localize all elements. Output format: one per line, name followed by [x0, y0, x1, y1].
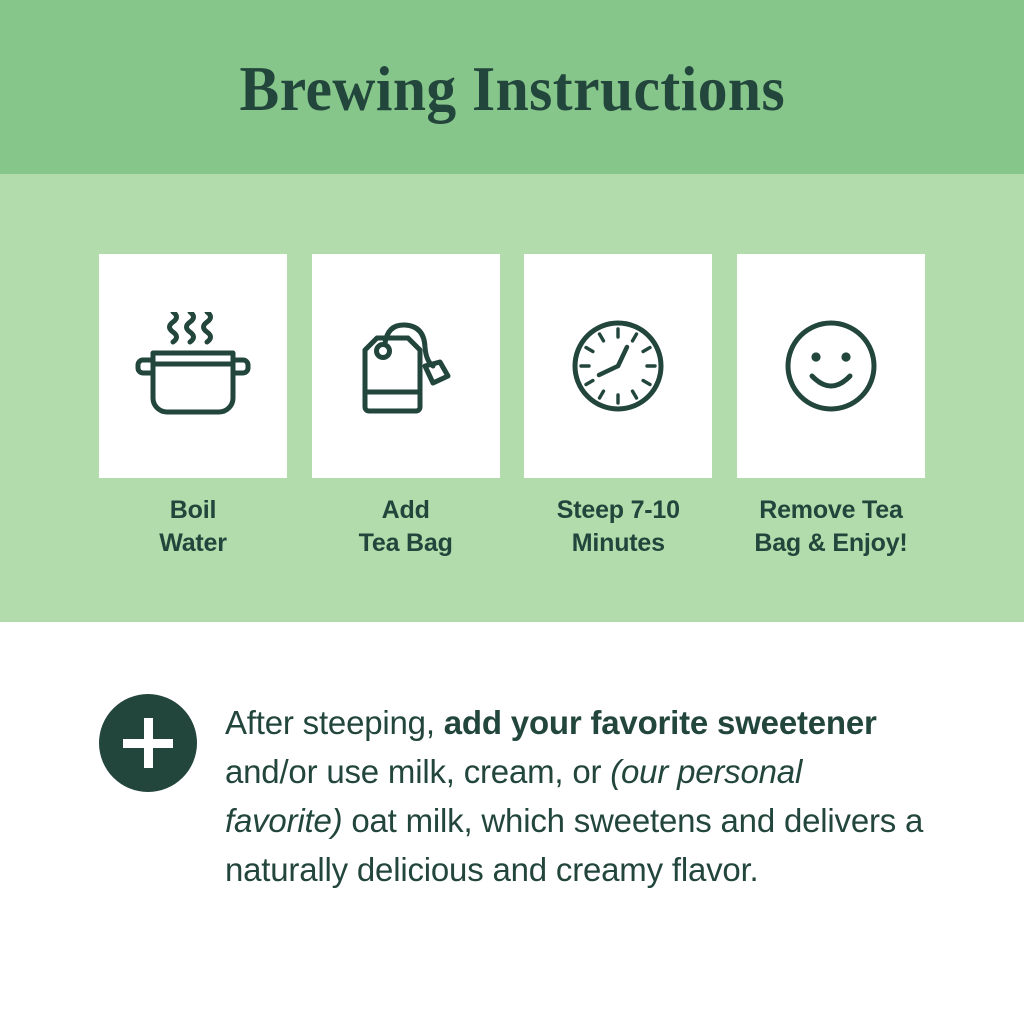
- note-segment-2: and/or use milk, cream, or: [225, 753, 610, 790]
- step-card: [737, 254, 925, 478]
- smiley-face-icon: [782, 317, 880, 415]
- step-label-line1: Steep 7-10: [557, 496, 680, 524]
- plus-icon-vertical-bar: [144, 718, 153, 768]
- step-card: [99, 254, 287, 478]
- header-band: Brewing Instructions: [0, 0, 1024, 174]
- step-label-line2: Tea Bag: [359, 529, 453, 557]
- step-add-tea-bag: Add Tea Bag: [312, 254, 500, 561]
- step-label: Steep 7-10 Minutes: [557, 494, 680, 561]
- brewing-instructions-page: Brewing Instructions: [0, 0, 1024, 1024]
- step-label-line1: Boil: [170, 496, 216, 524]
- page-title: Brewing Instructions: [239, 57, 785, 121]
- step-label-line2: Water: [159, 529, 227, 557]
- step-boil-water: Boil Water: [99, 254, 287, 561]
- note-inner: After steeping, add your favorite sweete…: [99, 694, 925, 894]
- step-label-line2: Minutes: [572, 529, 665, 557]
- tea-bag-icon: [352, 314, 460, 418]
- step-label-line2: Bag & Enjoy!: [754, 529, 907, 557]
- plus-icon: [99, 694, 197, 792]
- step-label: Remove Tea Bag & Enjoy!: [754, 494, 907, 561]
- boiling-pot-icon: [132, 312, 254, 420]
- step-label-line1: Add: [382, 496, 430, 524]
- step-label-line1: Remove Tea: [759, 496, 902, 524]
- steps-row: Boil Water: [99, 254, 925, 561]
- step-card: [524, 254, 712, 478]
- step-card: [312, 254, 500, 478]
- step-label: Boil Water: [159, 494, 227, 561]
- note-segment-0: After steeping,: [225, 704, 444, 741]
- step-steep: Steep 7-10 Minutes: [524, 254, 712, 561]
- step-remove-and-enjoy: Remove Tea Bag & Enjoy!: [737, 254, 925, 561]
- step-label: Add Tea Bag: [359, 494, 453, 561]
- note-section: After steeping, add your favorite sweete…: [0, 622, 1024, 1024]
- steps-band: Boil Water: [0, 174, 1024, 622]
- clock-icon: [569, 317, 667, 415]
- note-segment-1: add your favorite sweetener: [444, 704, 877, 741]
- note-text: After steeping, add your favorite sweete…: [225, 698, 925, 894]
